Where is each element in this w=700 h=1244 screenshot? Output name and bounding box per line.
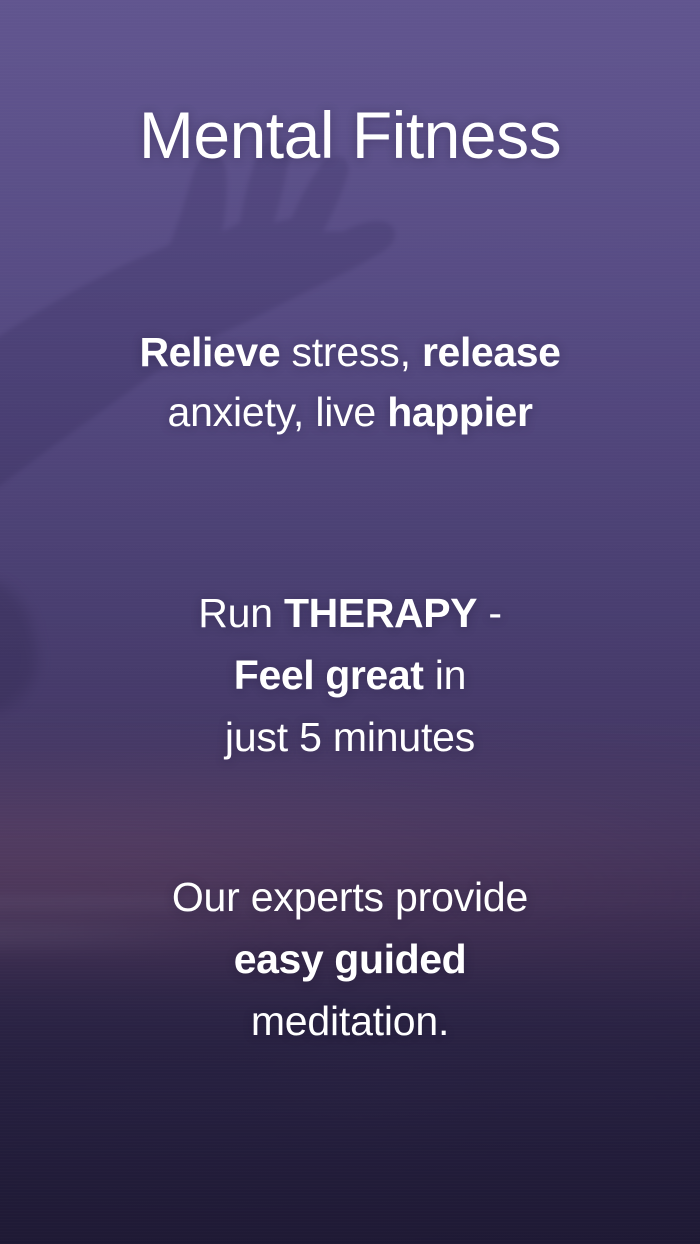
pitch-line-3: just 5 minutes [24, 706, 676, 768]
tagline-strong-release: release [422, 329, 561, 375]
pitch-text-just-5-minutes: just 5 minutes [225, 714, 475, 760]
promo-copy: Mental Fitness Relieve stress, release a… [0, 0, 700, 1244]
tagline-strong-relieve: Relieve [139, 329, 280, 375]
tagline-line-2: anxiety, live happier [24, 382, 676, 442]
experts-line-3: meditation. [24, 990, 676, 1052]
pitch-line-1: Run THERAPY - [24, 582, 676, 644]
experts-strong-easy-guided: easy guided [234, 936, 467, 982]
experts-text-our-experts-provide: Our experts provide [172, 874, 528, 920]
experts-line-1: Our experts provide [24, 866, 676, 928]
pitch-strong-feel-great: Feel great [234, 652, 424, 698]
pitch-line-2: Feel great in [24, 644, 676, 706]
experts-line-2: easy guided [24, 928, 676, 990]
pitch-text-in: in [424, 652, 467, 698]
experts-block: Our experts provide easy guided meditati… [0, 866, 700, 1052]
pitch-block: Run THERAPY - Feel great in just 5 minut… [0, 582, 700, 768]
tagline-line-1: Relieve stress, release [24, 322, 676, 382]
pitch-text-dash: - [477, 590, 502, 636]
promo-screen: Mental Fitness Relieve stress, release a… [0, 0, 700, 1244]
tagline-strong-happier: happier [387, 389, 532, 435]
experts-text-meditation: meditation. [251, 998, 449, 1044]
tagline-text-stress: stress, [280, 329, 422, 375]
tagline-text-anxiety-live: anxiety, live [167, 389, 387, 435]
pitch-strong-therapy: THERAPY [284, 590, 477, 636]
pitch-text-run: Run [198, 590, 284, 636]
headline: Mental Fitness [0, 96, 700, 174]
headline-text: Mental Fitness [24, 96, 676, 174]
tagline-block: Relieve stress, release anxiety, live ha… [0, 322, 700, 442]
